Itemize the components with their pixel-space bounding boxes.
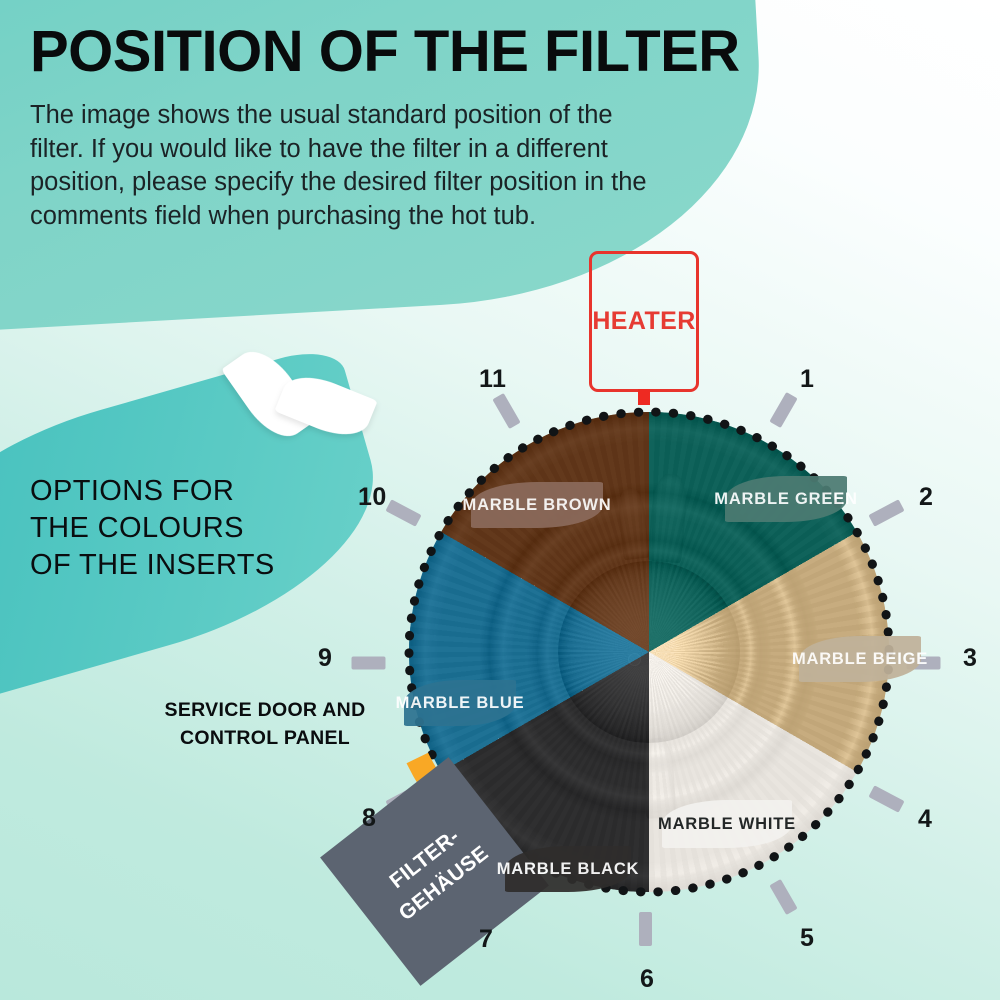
options-heading: OPTIONS FOR THE COLOURS OF THE INSERTS bbox=[30, 473, 275, 584]
clock-number-3[interactable]: 3 bbox=[963, 644, 977, 673]
header-text-group: POSITION OF THE FILTER The image shows t… bbox=[30, 22, 710, 234]
heater-callout-box[interactable]: HEATER bbox=[589, 251, 699, 392]
marble-badge-label: MARBLE WHITE bbox=[658, 815, 796, 834]
clock-number-10[interactable]: 10 bbox=[358, 483, 387, 512]
heater-label: HEATER bbox=[592, 307, 695, 336]
marble-badge-marble-black[interactable]: MARBLE BLACK bbox=[505, 846, 631, 892]
clock-number-5[interactable]: 5 bbox=[800, 924, 814, 953]
marble-badge-label: MARBLE BROWN bbox=[463, 496, 612, 515]
marble-badge-marble-brown[interactable]: MARBLE BROWN bbox=[471, 482, 603, 528]
marble-badge-marble-white[interactable]: MARBLE WHITE bbox=[662, 800, 792, 848]
header-paragraph: The image shows the usual standard posit… bbox=[30, 99, 670, 234]
options-heading-line-3: OF THE INSERTS bbox=[30, 547, 275, 584]
clock-number-4[interactable]: 4 bbox=[918, 805, 932, 834]
clock-tick-6 bbox=[639, 912, 652, 946]
clock-number-9[interactable]: 9 bbox=[318, 644, 332, 673]
marble-badge-marble-green[interactable]: MARBLE GREEN bbox=[725, 476, 847, 522]
service-door-label-line-2: CONTROL PANEL bbox=[150, 725, 380, 753]
marble-badge-label: MARBLE BEIGE bbox=[792, 650, 928, 669]
clock-number-2[interactable]: 2 bbox=[919, 483, 933, 512]
clock-number-7[interactable]: 7 bbox=[479, 925, 493, 954]
marble-badge-label: MARBLE GREEN bbox=[714, 490, 857, 509]
options-heading-line-2: THE COLOURS bbox=[30, 510, 275, 547]
filter-housing-label: FILTER- GEHÄUSE bbox=[374, 815, 496, 929]
service-door-label-line-1: SERVICE DOOR AND bbox=[150, 697, 380, 725]
marble-badge-marble-beige[interactable]: MARBLE BEIGE bbox=[799, 636, 921, 682]
heater-connector-stem bbox=[638, 389, 650, 405]
options-heading-line-1: OPTIONS FOR bbox=[30, 473, 275, 510]
marble-badge-label: MARBLE BLACK bbox=[497, 860, 640, 879]
service-door-label: SERVICE DOOR AND CONTROL PANEL bbox=[150, 697, 380, 752]
clock-number-1[interactable]: 1 bbox=[800, 365, 814, 394]
clock-number-6[interactable]: 6 bbox=[640, 965, 654, 994]
marble-badge-label: MARBLE BLUE bbox=[396, 694, 525, 713]
infographic-canvas: POSITION OF THE FILTER The image shows t… bbox=[0, 0, 1000, 1000]
clock-number-11[interactable]: 11 bbox=[479, 365, 506, 394]
page-title: POSITION OF THE FILTER bbox=[30, 22, 710, 83]
clock-tick-9 bbox=[352, 657, 386, 670]
marble-badge-marble-blue[interactable]: MARBLE BLUE bbox=[404, 680, 516, 726]
clock-number-8[interactable]: 8 bbox=[362, 804, 376, 833]
